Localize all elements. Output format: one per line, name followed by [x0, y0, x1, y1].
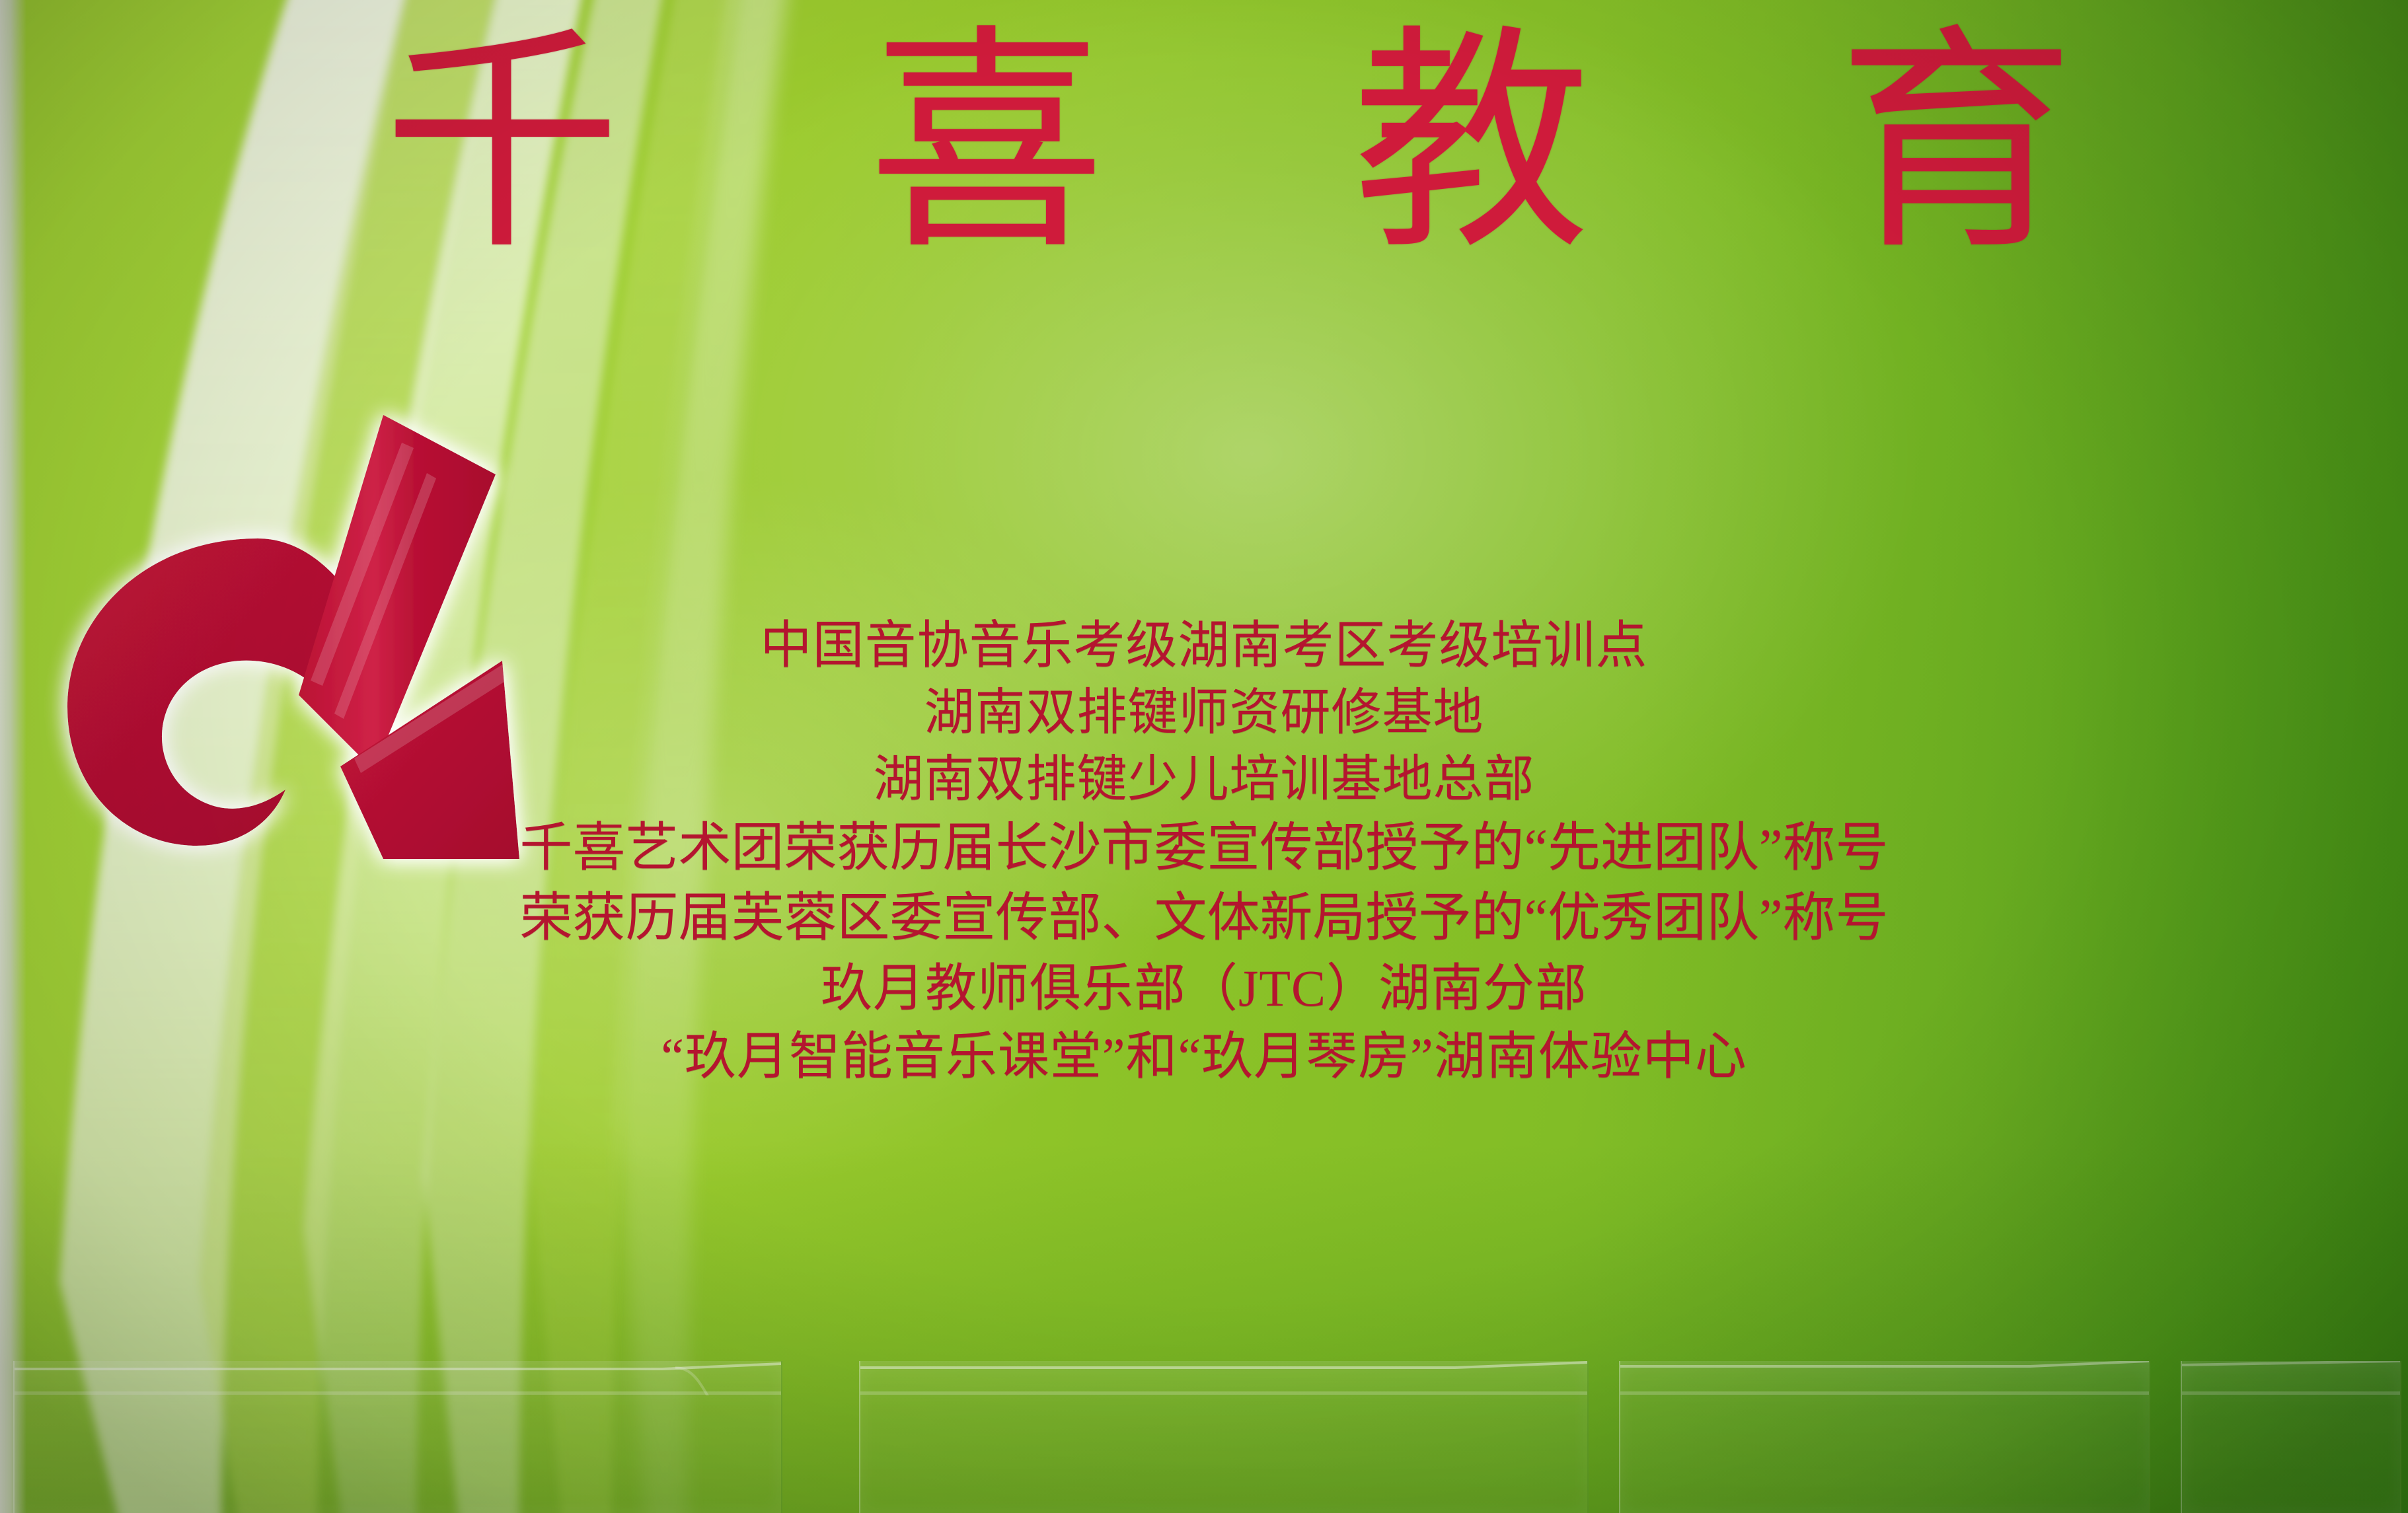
brochure-pocket-1[interactable] [13, 1361, 782, 1513]
credential-line-2: 湖南双排键师资研修基地 [0, 680, 2408, 747]
credential-line-5: 荣获历届芙蓉区委宣传部、文体新局授予的“优秀团队”称号 [0, 883, 2408, 953]
heading-char-4: 育 [1837, 26, 2075, 264]
pocket-notch-2 [860, 1361, 1587, 1395]
sign-credentials-list: 中国音协音乐考级湖南考区考级培训点 湖南双排键师资研修基地 湖南双排键少儿培训基… [0, 611, 2408, 1091]
pocket-top-band-1 [15, 1391, 781, 1395]
pocket-top-band-4 [2182, 1391, 2400, 1395]
credential-line-7: “玖月智能音乐课堂”和“玖月琴房”湖南体验中心 [0, 1022, 2408, 1091]
pocket-notch-4 [2182, 1361, 2400, 1395]
credential-line-6: 玖月教师俱乐部（JTC）湖南分部 [0, 954, 2408, 1023]
credential-line-3: 湖南双排键少儿培训基地总部 [0, 747, 2408, 813]
heading-char-2: 喜 [868, 26, 1106, 264]
pocket-top-band-2 [860, 1391, 1587, 1395]
brochure-pocket-2[interactable] [859, 1361, 1589, 1513]
heading-char-3: 教 [1353, 26, 1591, 264]
brochure-pocket-3[interactable] [1619, 1361, 2150, 1513]
pocket-notch-1 [15, 1361, 781, 1395]
heading-char-1: 千 [383, 26, 621, 264]
pocket-notch-3 [1620, 1361, 2149, 1395]
credential-line-4: 千喜艺术团荣获历届长沙市委宣传部授予的“先进团队”称号 [0, 813, 2408, 883]
signage-photo: 千 喜 教 育 [0, 0, 2408, 1513]
pocket-top-band-3 [1620, 1391, 2149, 1395]
credential-line-1: 中国音协音乐考级湖南考区考级培训点 [0, 611, 2408, 680]
brochure-pocket-4[interactable] [2181, 1361, 2401, 1513]
sign-heading: 千 喜 教 育 [383, 26, 2075, 264]
brochure-pocket-row [0, 1361, 2408, 1513]
